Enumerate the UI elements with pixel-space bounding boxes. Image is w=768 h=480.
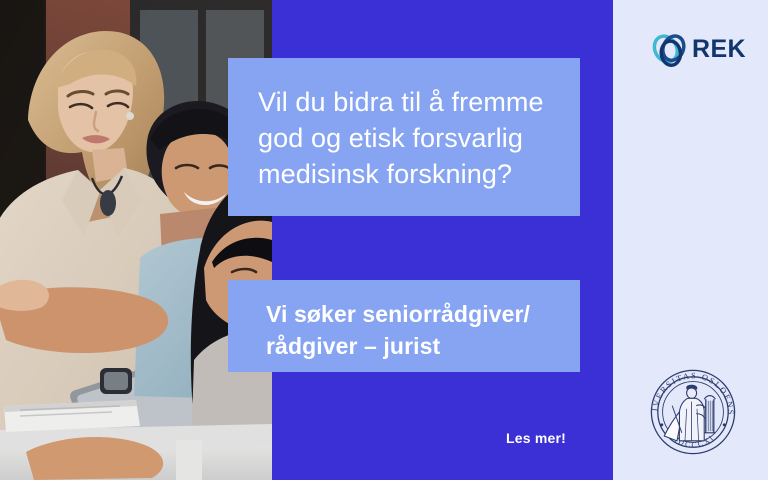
uio-seal[interactable]: UNIVERSITAS OSLOENSIS MDCCCXI: [645, 364, 741, 460]
read-more-link[interactable]: Les mer!: [506, 430, 566, 446]
job-title-box: Vi søker seniorrådgiver/ rådgiver – juri…: [228, 280, 580, 372]
rek-logo[interactable]: REK: [650, 27, 746, 71]
interlocking-rings-icon: [650, 27, 690, 71]
recruitment-banner: Vil du bidra til å fremme god og etisk f…: [0, 0, 768, 480]
headline-box: Vil du bidra til å fremme god og etisk f…: [228, 58, 580, 216]
headline-text: Vil du bidra til å fremme god og etisk f…: [258, 84, 554, 192]
job-title-text: Vi søker seniorrådgiver/ rådgiver – juri…: [266, 298, 558, 362]
university-of-oslo-seal-icon: UNIVERSITAS OSLOENSIS MDCCCXI: [645, 364, 741, 460]
rek-wordmark: REK: [692, 37, 746, 62]
